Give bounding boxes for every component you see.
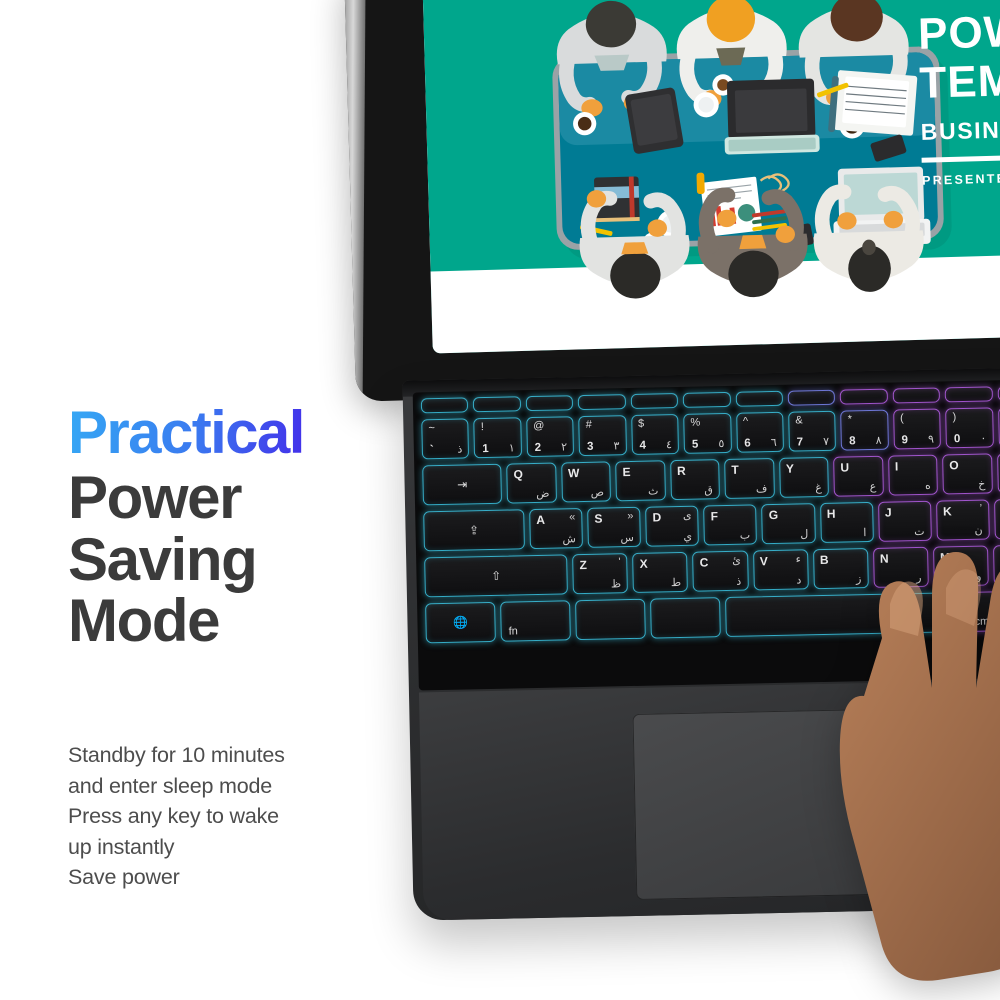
key-esc[interactable]	[421, 397, 469, 413]
key-fn[interactable]: fn	[500, 600, 571, 641]
key-y[interactable]: Y غ	[779, 457, 829, 498]
key-f4[interactable]	[630, 393, 678, 409]
key-7[interactable]: & 7 ٧	[788, 411, 836, 452]
key-k[interactable]: K ’ ن	[936, 500, 990, 541]
body-copy: Standby for 10 minutes and enter sleep m…	[68, 740, 368, 893]
key-g[interactable]: G ل	[762, 503, 816, 544]
key-3[interactable]: # 3 ٣	[578, 415, 626, 456]
key-o[interactable]: O خ	[942, 453, 992, 494]
key-j[interactable]: J ت	[878, 501, 932, 542]
key-9[interactable]: ( 9 ٩	[893, 409, 941, 450]
key-f7[interactable]	[788, 390, 836, 406]
presentation-slide: POWERPOINT TEMPLATE BUSINESS PRESENTED B…	[422, 0, 1000, 354]
key-e[interactable]: E ث	[615, 460, 665, 501]
key-2[interactable]: @ 2 ٢	[526, 416, 574, 457]
slide-title-block: POWERPOINT TEMPLATE BUSINESS PRESENTED B…	[917, 1, 1000, 187]
key-capslock[interactable]: ⇪	[423, 509, 525, 551]
left-hand	[820, 546, 1000, 1000]
key-4[interactable]: $ 4 ٤	[631, 414, 679, 455]
key-backtick[interactable]: ~ ` ذ	[421, 418, 469, 459]
key-a[interactable]: A « ش	[529, 508, 583, 549]
key-f8[interactable]	[840, 389, 888, 405]
key-globe[interactable]: 🌐	[425, 602, 496, 643]
slide-subtitle: BUSINESS	[920, 110, 1000, 145]
slide-credit: PRESENTED BY	[922, 165, 1000, 187]
shift-icon: ⇧	[424, 567, 568, 584]
lid-edge	[344, 0, 365, 402]
key-1[interactable]: ! 1 ١	[474, 417, 522, 458]
poster-canvas: Practical Power Saving Mode Standby for …	[0, 0, 1000, 1000]
key-v[interactable]: V ء د	[753, 549, 809, 590]
body-line-3: Press any key to wake	[68, 801, 368, 832]
slide-title-line-2: TEMPLATE	[919, 51, 1000, 109]
body-line-5: Save power	[68, 862, 368, 893]
key-x[interactable]: X ط	[632, 552, 688, 593]
key-option[interactable]	[650, 597, 721, 638]
body-line-2: and enter sleep mode	[68, 771, 368, 802]
table-laptop-dark	[723, 79, 820, 155]
key-f1[interactable]	[473, 396, 521, 412]
key-w[interactable]: W ص	[561, 461, 611, 502]
key-s[interactable]: S » س	[587, 507, 641, 548]
body-line-1: Standby for 10 minutes	[68, 740, 368, 771]
globe-icon: 🌐	[425, 615, 495, 630]
capslock-icon: ⇪	[423, 522, 524, 538]
key-f6[interactable]	[735, 391, 783, 407]
key-f9[interactable]	[892, 388, 940, 404]
key-l[interactable]: L م	[994, 498, 1000, 539]
slide-divider	[922, 152, 1000, 162]
key-f2[interactable]	[526, 395, 574, 411]
key-shift-left[interactable]: ⇧	[424, 554, 568, 597]
key-f3[interactable]	[578, 394, 626, 410]
key-z[interactable]: Z ' ظ	[572, 553, 628, 594]
key-t[interactable]: T ف	[724, 458, 774, 499]
key-q[interactable]: Q ض	[506, 463, 556, 504]
key-control[interactable]	[575, 599, 646, 640]
laptop-screen[interactable]: POWERPOINT TEMPLATE BUSINESS PRESENTED B…	[422, 0, 1000, 354]
key-i[interactable]: I ه	[888, 455, 938, 496]
key-p[interactable]: P ح	[997, 452, 1000, 493]
business-meeting-illustration	[449, 0, 1000, 319]
key-8[interactable]: * 8 ٨	[841, 410, 889, 451]
key-5[interactable]: % 5 ٥	[683, 413, 731, 454]
tab-icon: ⇥	[422, 477, 501, 493]
key-c[interactable]: C ئ ذ	[692, 551, 748, 592]
slide-title-line-1: POWERPOINT	[917, 1, 1000, 59]
key-f10[interactable]	[945, 386, 993, 402]
notebook	[827, 68, 920, 138]
key-f[interactable]: F ب	[703, 504, 757, 545]
laptop-lid: POWERPOINT TEMPLATE BUSINESS PRESENTED B…	[344, 0, 1000, 402]
key-tab[interactable]: ⇥	[422, 464, 502, 506]
key-0[interactable]: ) 0 ٠	[945, 407, 993, 448]
key-d[interactable]: D ى ي	[645, 506, 699, 547]
key-u[interactable]: U ع	[833, 456, 883, 497]
key-h[interactable]: H ا	[820, 502, 874, 543]
key-6[interactable]: ^ 6 ٦	[736, 412, 784, 453]
laptop-device: POWERPOINT TEMPLATE BUSINESS PRESENTED B…	[330, 0, 1000, 1000]
body-line-4: up instantly	[68, 832, 368, 863]
key-f5[interactable]	[683, 392, 731, 408]
key-r[interactable]: R ق	[670, 459, 720, 500]
